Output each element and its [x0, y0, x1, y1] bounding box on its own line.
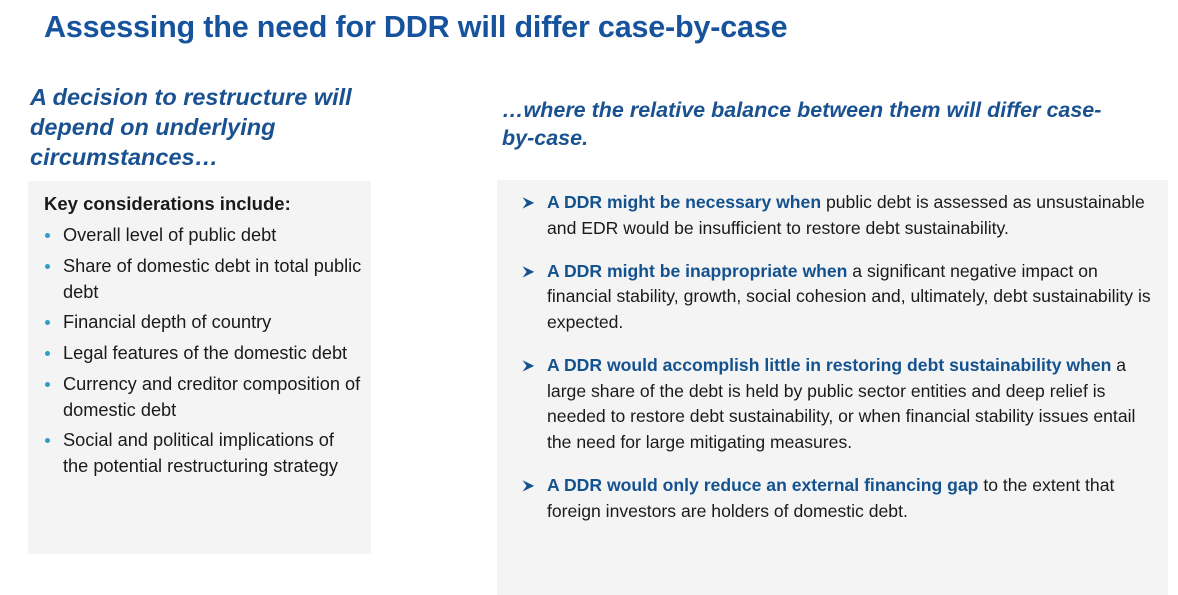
left-column-heading: A decision to restructure will depend on… — [30, 82, 380, 172]
ddr-guidance-list: A DDR might be necessary when public deb… — [509, 190, 1159, 524]
bullet-dot-icon — [45, 264, 50, 269]
page-title: Assessing the need for DDR will differ c… — [44, 8, 1128, 47]
list-item-label: Financial depth of country — [63, 312, 271, 332]
list-item-label: Legal features of the domestic debt — [63, 343, 347, 363]
bullet-dot-icon — [45, 320, 50, 325]
list-item: Currency and creditor composition of dom… — [40, 372, 362, 424]
bullet-dot-icon — [45, 438, 50, 443]
list-item-lead: A DDR would only reduce an external fina… — [547, 475, 978, 495]
arrow-chevron-icon — [520, 194, 538, 212]
list-item-lead: A DDR would accomplish little in restori… — [547, 355, 1111, 375]
list-item: Financial depth of country — [40, 310, 362, 336]
key-considerations-list: Overall level of public debtShare of dom… — [40, 223, 362, 485]
arrow-chevron-icon — [520, 477, 538, 495]
list-item: A DDR would only reduce an external fina… — [509, 473, 1159, 525]
list-item-label: Currency and creditor composition of dom… — [63, 374, 360, 420]
list-item: A DDR would accomplish little in restori… — [509, 353, 1159, 456]
bullet-dot-icon — [45, 382, 50, 387]
list-item: Legal features of the domestic debt — [40, 341, 362, 367]
right-column-heading: …where the relative balance between them… — [502, 97, 1102, 152]
list-item-label: Share of domestic debt in total public d… — [63, 256, 361, 302]
bullet-dot-icon — [45, 351, 50, 356]
arrow-chevron-icon — [520, 263, 538, 281]
arrow-chevron-icon — [520, 357, 538, 375]
list-item-lead: A DDR might be inappropriate when — [547, 261, 847, 281]
list-item: Share of domestic debt in total public d… — [40, 254, 362, 306]
list-item-label: Social and political implications of the… — [63, 430, 338, 476]
list-item: Social and political implications of the… — [40, 428, 362, 480]
key-considerations-panel: Key considerations include: Overall leve… — [28, 181, 371, 554]
key-considerations-heading: Key considerations include: — [44, 193, 291, 215]
list-item-label: Overall level of public debt — [63, 225, 276, 245]
list-item: A DDR might be necessary when public deb… — [509, 190, 1159, 242]
list-item-lead: A DDR might be necessary when — [547, 192, 821, 212]
bullet-dot-icon — [45, 233, 50, 238]
ddr-guidance-panel: A DDR might be necessary when public deb… — [497, 180, 1168, 595]
list-item: Overall level of public debt — [40, 223, 362, 249]
list-item: A DDR might be inappropriate when a sign… — [509, 259, 1159, 336]
